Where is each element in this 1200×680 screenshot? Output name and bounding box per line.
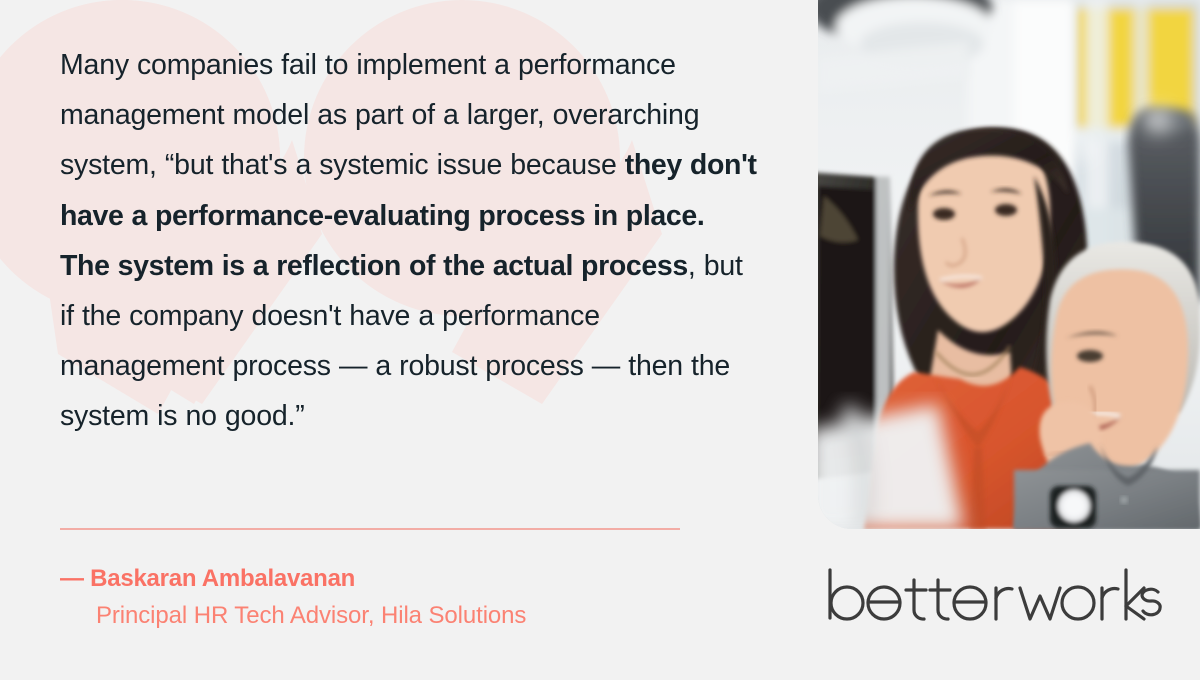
quote-card: Many companies fail to implement a perfo… xyxy=(0,0,1200,680)
quote-content-column: Many companies fail to implement a perfo… xyxy=(0,0,800,680)
attribution-name: — Baskaran Ambalavanan xyxy=(60,562,760,596)
quote-run: Many companies fail to implement a perfo… xyxy=(60,49,699,181)
attribution-role: Principal HR Tech Advisor, Hila Solution… xyxy=(96,596,760,636)
office-photo xyxy=(818,0,1200,529)
betterworks-wordmark-icon xyxy=(822,566,1162,622)
quote-text: Many companies fail to implement a perfo… xyxy=(60,40,760,442)
attribution-block: — Baskaran Ambalavanan Principal HR Tech… xyxy=(60,562,760,636)
attribution-divider xyxy=(60,528,680,530)
